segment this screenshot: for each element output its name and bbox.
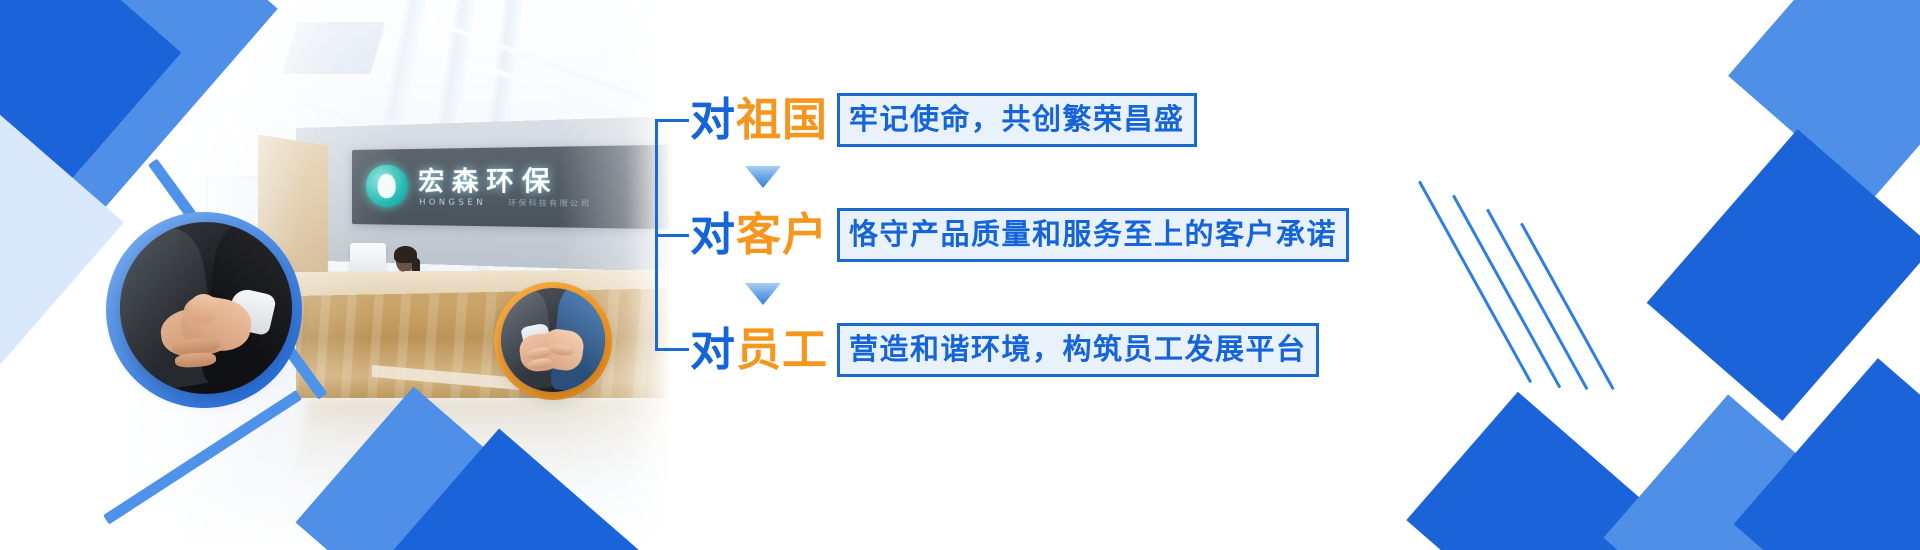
value-lede-customer: 对客户	[690, 207, 828, 263]
triangle-down-icon	[745, 166, 781, 188]
value-lede-prefix: 对	[690, 208, 736, 261]
value-lede-country: 对祖国	[690, 92, 828, 148]
value-statement-customer: 恪守产品质量和服务至上的客户承诺	[837, 208, 1349, 262]
value-lede-subject: 客户	[736, 208, 828, 261]
values-bracket-middle-tick	[655, 234, 689, 237]
value-statement-employee: 营造和谐环境，构筑员工发展平台	[837, 323, 1319, 377]
value-lede-prefix: 对	[690, 323, 736, 376]
value-lede-subject: 祖国	[736, 93, 828, 146]
triangle-down-icon	[745, 283, 781, 305]
value-statement-country: 牢记使命，共创繁荣昌盛	[837, 93, 1197, 147]
value-lede-prefix: 对	[690, 93, 736, 146]
value-row-customer: 对客户 恪守产品质量和服务至上的客户承诺	[690, 207, 1349, 263]
value-row-country: 对祖国 牢记使命，共创繁荣昌盛	[690, 92, 1197, 148]
values-content: 对祖国 牢记使命，共创繁荣昌盛 对客户 恪守产品质量和服务至上的客户承诺 对员工…	[0, 0, 1920, 550]
corporate-values-banner: 宏森环保 HONGSEN 环保科技有限公司	[0, 0, 1920, 550]
value-row-employee: 对员工 营造和谐环境，构筑员工发展平台	[690, 322, 1319, 378]
value-lede-subject: 员工	[736, 323, 828, 376]
value-lede-employee: 对员工	[690, 322, 828, 378]
